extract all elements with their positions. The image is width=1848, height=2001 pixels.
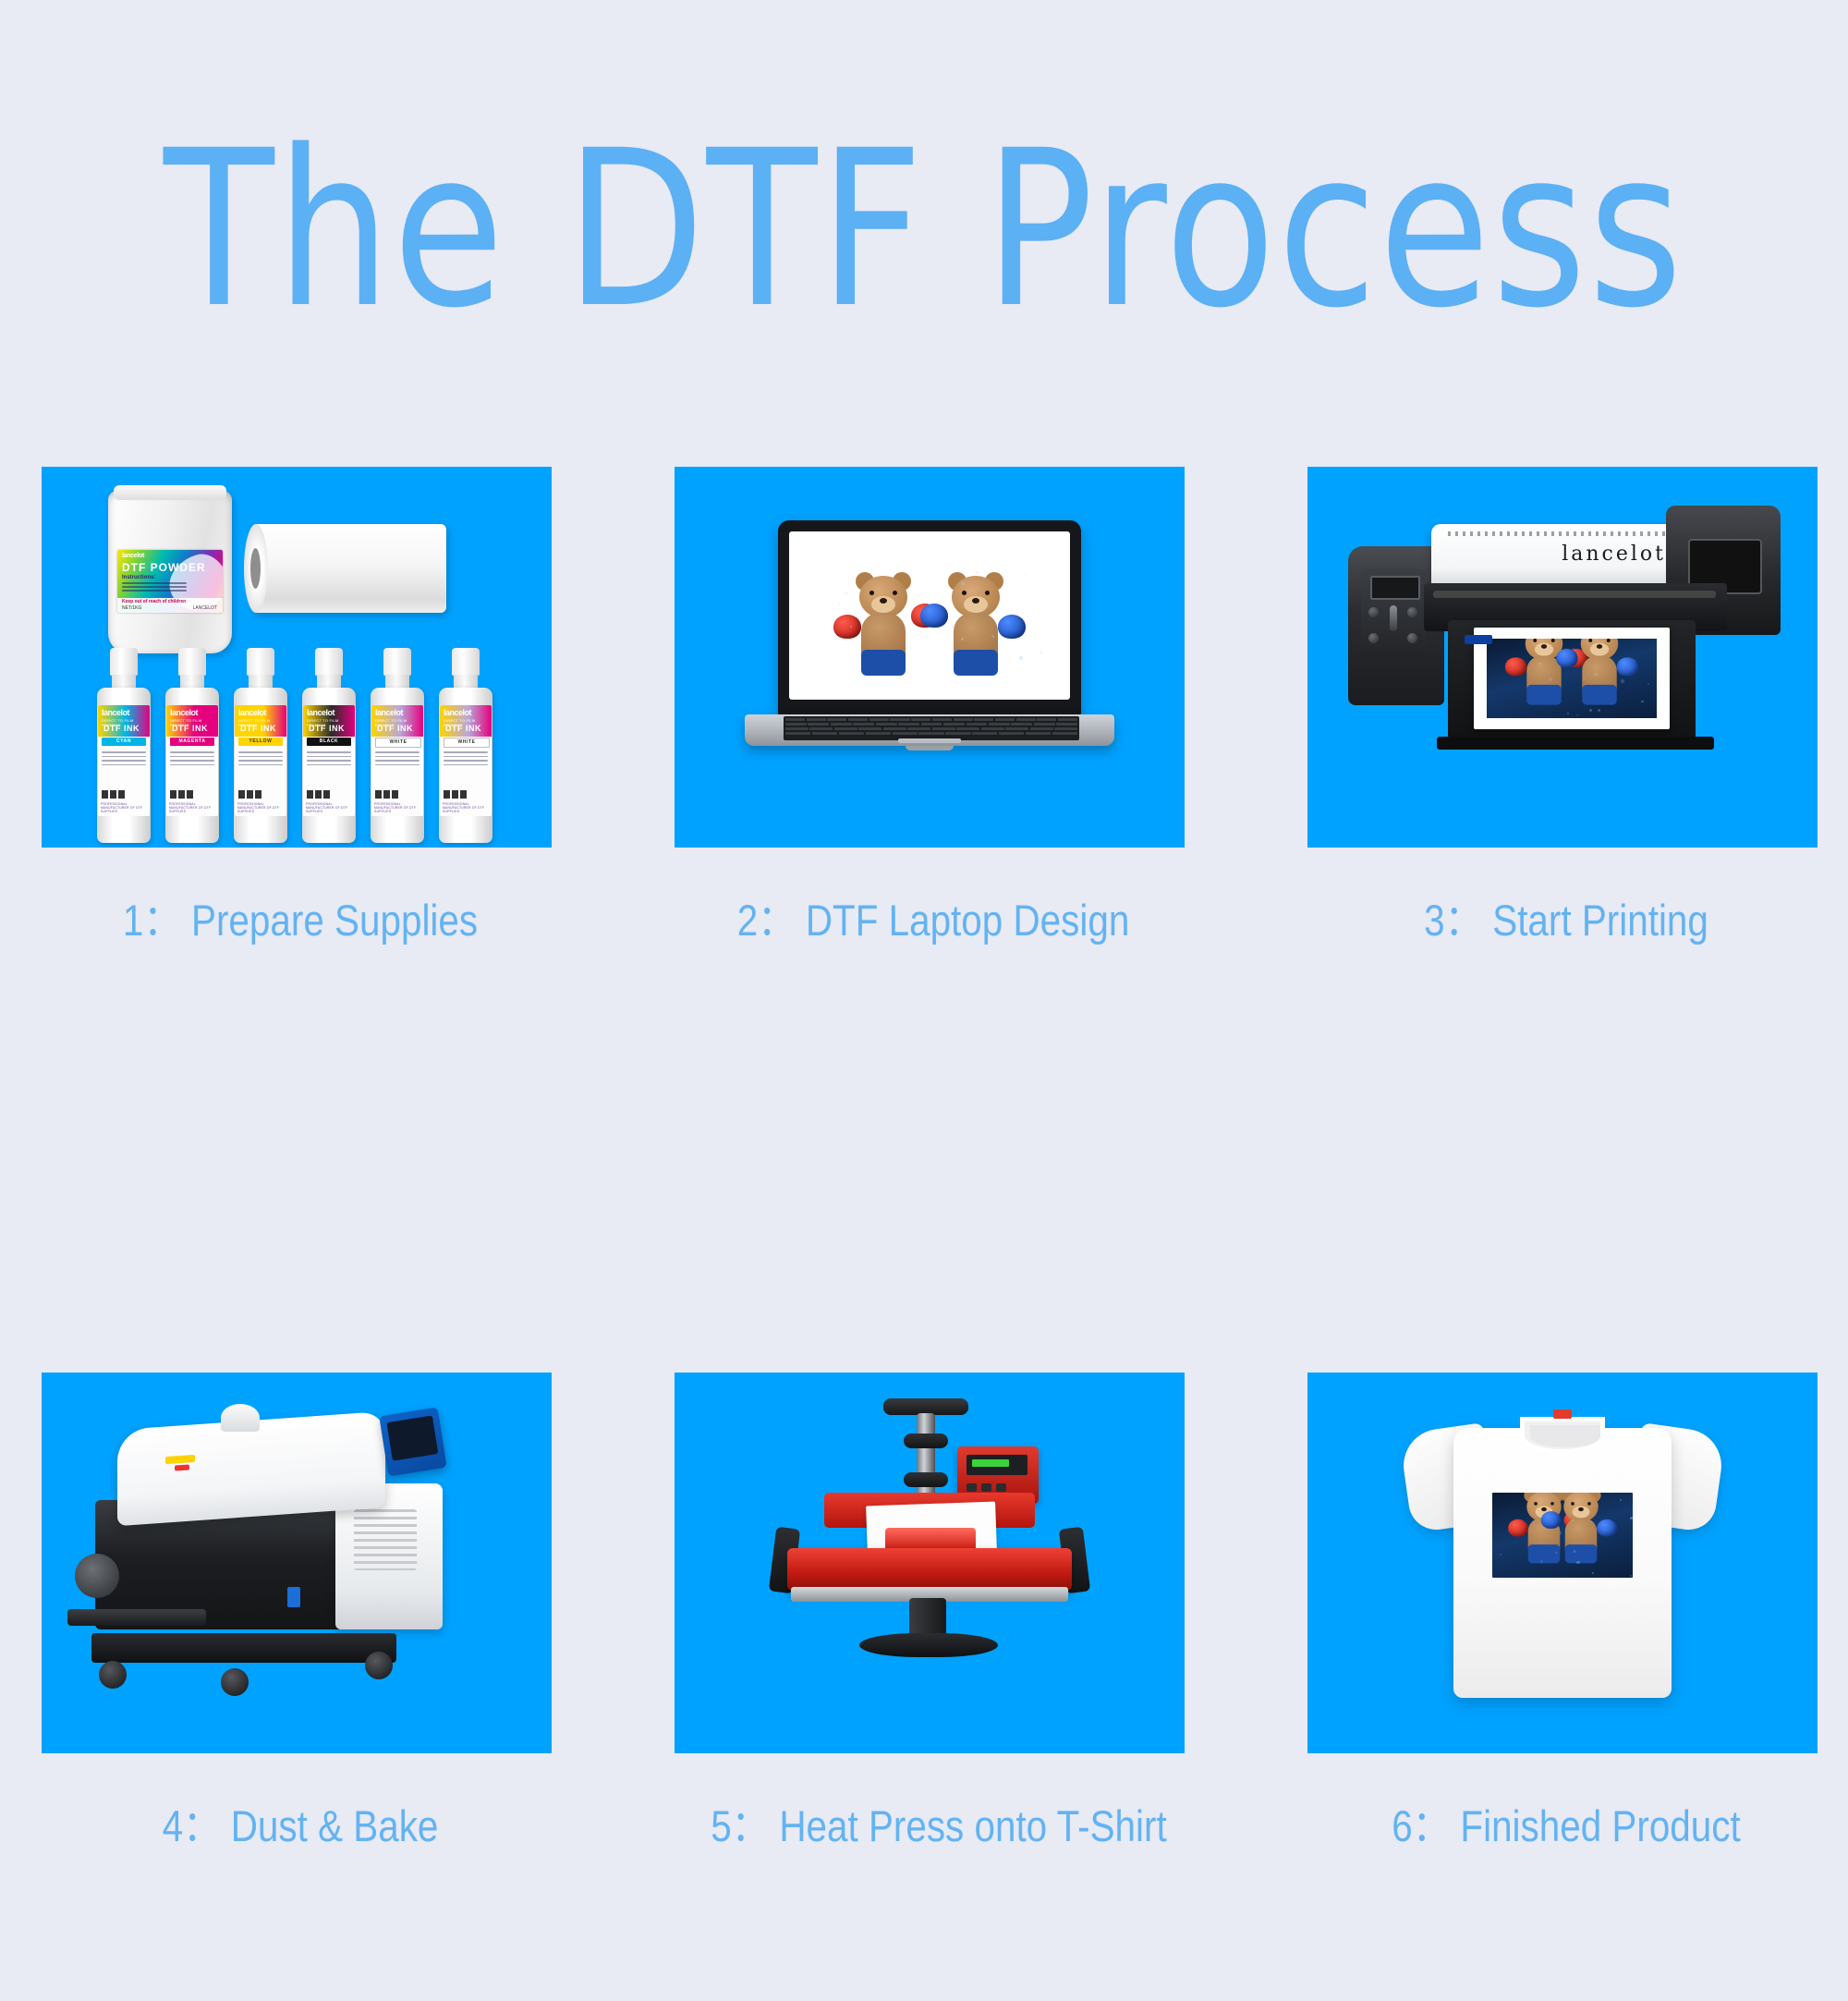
bottle-spec-lines <box>375 751 419 768</box>
bottle-label: lancelotDIRECT TO FILM PRINTINGDTF INKWH… <box>371 705 423 816</box>
bottle-color-name: WHITE <box>444 738 490 748</box>
artwork-sparkle <box>850 626 852 628</box>
teddy-bear-left-icon <box>841 572 926 676</box>
bottle-spec-lines <box>238 751 283 768</box>
steps-row-bottom: 4： Dust & Bake <box>0 1373 1848 2001</box>
boxing-glove-blue-icon <box>1541 1511 1562 1529</box>
bottle-footer: PROFESSIONAL MANUFACTURER OF DTF SUPPLIE… <box>374 802 423 813</box>
shaker-caster-wheel <box>365 1652 393 1679</box>
artwork-sparkle <box>1592 1572 1594 1574</box>
dtf-process-infographic: The DTF Process lancelot DTF POWDER Inst… <box>0 0 1848 1848</box>
powder-net-weight: NET/1KG <box>122 605 141 611</box>
shaker-feed-arm <box>67 1609 206 1626</box>
bottle-safety-icons <box>307 787 332 803</box>
press-pressure-knob[interactable] <box>904 1434 948 1448</box>
step-image-4 <box>42 1373 552 1753</box>
printer-lcd-display <box>1370 576 1420 600</box>
bottle-brand: lancelot <box>444 708 471 717</box>
shaker-caster-wheel <box>99 1661 127 1689</box>
press-pressure-knob[interactable] <box>904 1472 948 1487</box>
powder-product-name: DTF POWDER <box>122 561 206 574</box>
bottle-footer: PROFESSIONAL MANUFACTURER OF DTF SUPPLIE… <box>237 802 286 813</box>
press-lcd-display <box>967 1455 1027 1475</box>
bottle-brand: lancelot <box>170 708 198 717</box>
bottle-brand: lancelot <box>102 708 129 717</box>
dtf-powder-bag: lancelot DTF POWDER Instructions: Keep o… <box>108 491 232 653</box>
artwork-sparkle <box>1641 701 1643 702</box>
bottle-footer: PROFESSIONAL MANUFACTURER OF DTF SUPPLIE… <box>101 802 150 813</box>
powder-logo-mark: LANCELOT <box>193 605 217 611</box>
artwork-sparkle <box>1040 652 1042 653</box>
bottle-product: DTF INK <box>240 724 276 733</box>
press-stem <box>917 1413 935 1502</box>
artwork-sparkle <box>1630 1575 1633 1578</box>
step-caption-3: 3： Start Printing <box>1343 885 1789 948</box>
step-caption-4: 4： Dust & Bake <box>78 1790 523 1854</box>
artwork-sparkle <box>1026 574 1027 576</box>
bottle-color-name: BLACK <box>307 738 351 746</box>
bottle-footer: PROFESSIONAL MANUFACTURER OF DTF SUPPLIE… <box>169 802 218 813</box>
step-image-6 <box>1307 1373 1818 1753</box>
bottle-safety-icons <box>170 787 195 803</box>
bottle-cap <box>247 648 274 676</box>
artwork-sparkle <box>1574 1550 1576 1553</box>
bottle-product: DTF INK <box>445 724 481 733</box>
tshirt-neck-tag <box>1553 1409 1572 1419</box>
artwork-sparkle <box>1594 673 1597 676</box>
powder-instruction-lines <box>122 582 187 593</box>
shaker-red-label <box>175 1464 189 1470</box>
bottle-footer: PROFESSIONAL MANUFACTURER OF DTF SUPPLIE… <box>443 802 492 813</box>
step-image-3: lancelot <box>1307 467 1818 848</box>
bottle-color-name: CYAN <box>102 738 146 746</box>
powder-label: lancelot DTF POWDER Instructions: Keep o… <box>117 550 223 613</box>
shaker-vent-grille <box>354 1509 417 1570</box>
artwork-sparkle <box>1620 1499 1622 1501</box>
artwork-sparkle <box>1576 714 1578 716</box>
artwork-sparkle <box>1647 683 1649 685</box>
bottle-cap <box>110 648 138 676</box>
step-image-1: lancelot DTF POWDER Instructions: Keep o… <box>42 467 552 848</box>
boxing-glove-red-icon <box>1508 1519 1528 1537</box>
design-artwork-print <box>1487 639 1657 718</box>
step-card-6[interactable]: 6： Finished Product <box>1307 1373 1825 1854</box>
printer-base-feet <box>1437 737 1714 750</box>
bottle-label: lancelotDIRECT TO FILM PRINTINGDTF INKCY… <box>98 705 150 816</box>
artwork-sparkle <box>1598 709 1600 712</box>
printer-button <box>1407 607 1417 617</box>
step-card-2[interactable]: 2： DTF Laptop Design <box>675 467 1192 948</box>
bottle-brand: lancelot <box>238 708 266 717</box>
bottle-safety-icons <box>444 787 468 803</box>
laptop-touchpad <box>898 738 961 743</box>
step-card-5[interactable]: 5： Heat Press onto T-Shirt <box>675 1373 1192 1854</box>
bottle-label: lancelotDIRECT TO FILM PRINTINGDTF INKBL… <box>303 705 355 816</box>
shaker-caster-wheel <box>221 1668 249 1696</box>
press-lower-platen <box>787 1548 1072 1591</box>
printer-button <box>1407 633 1417 643</box>
shaker-touchscreen[interactable] <box>379 1407 447 1476</box>
ink-bottle: lancelotDIRECT TO FILM PRINTINGDTF INKBL… <box>300 648 358 844</box>
ink-bottle: lancelotDIRECT TO FILM PRINTINGDTF INKWH… <box>369 648 426 844</box>
powder-shaker-oven-icon <box>58 1391 535 1739</box>
artwork-sparkle <box>838 604 841 606</box>
laptop-icon <box>745 520 1114 798</box>
step-card-1[interactable]: lancelot DTF POWDER Instructions: Keep o… <box>42 467 559 948</box>
printer-brand-logo: lancelot <box>1562 543 1666 566</box>
step-image-2 <box>675 467 1185 848</box>
step-caption-6: 6： Finished Product <box>1343 1790 1789 1854</box>
bottle-color-name: MAGENTA <box>170 738 214 746</box>
press-foot-base <box>859 1633 998 1657</box>
artwork-sparkle <box>1576 1561 1579 1564</box>
ink-bottle: lancelotDIRECT TO FILM PRINTINGDTF INKYE… <box>232 648 289 844</box>
artwork-sparkle <box>978 587 979 588</box>
bottle-color-name: WHITE <box>375 738 421 748</box>
bottle-brand: lancelot <box>307 708 334 717</box>
tshirt-collar <box>1520 1417 1605 1454</box>
finished-tshirt-icon <box>1405 1397 1720 1729</box>
bottle-spec-lines <box>102 751 146 768</box>
bottle-brand: lancelot <box>375 708 403 717</box>
bottle-product: DTF INK <box>103 724 140 733</box>
bottle-color-name: YELLOW <box>238 738 283 746</box>
artwork-sparkle <box>1500 1554 1501 1556</box>
boxing-glove-blue-icon <box>1556 649 1577 667</box>
dtf-printer-icon: lancelot <box>1335 498 1788 812</box>
artwork-sparkle <box>983 577 985 579</box>
printer-status-indicator <box>1465 635 1492 644</box>
step-image-5 <box>675 1373 1185 1753</box>
bottle-cap <box>178 648 206 676</box>
heat-press-icon <box>763 1393 1096 1742</box>
bottle-label: lancelotDIRECT TO FILM PRINTINGDTF INKWH… <box>440 705 492 816</box>
artwork-sparkle <box>952 625 954 627</box>
step-card-4[interactable]: 4： Dust & Bake <box>42 1373 559 1854</box>
printer-joystick <box>1390 605 1397 631</box>
boxing-glove-blue-icon <box>1597 1519 1617 1537</box>
step-caption-1: 1： Prepare Supplies <box>78 885 523 948</box>
steps-grid: lancelot DTF POWDER Instructions: Keep o… <box>0 467 1848 2001</box>
printer-vent-dots <box>1448 531 1699 536</box>
step-card-3[interactable]: lancelot <box>1307 467 1825 948</box>
artwork-sparkle <box>1499 688 1501 689</box>
printer-button <box>1368 607 1379 617</box>
steps-row-top: lancelot DTF POWDER Instructions: Keep o… <box>0 467 1848 1095</box>
powder-brand: lancelot <box>122 553 144 559</box>
bottle-cap <box>452 648 480 676</box>
design-artwork-tshirt <box>1492 1493 1633 1578</box>
page-title: The DTF Process <box>9 122 1839 338</box>
artwork-sparkle <box>979 609 982 612</box>
bottle-spec-lines <box>307 751 351 768</box>
ink-bottle: lancelotDIRECT TO FILM PRINTINGDTF INKCY… <box>95 648 152 844</box>
film-roll-core <box>250 548 261 589</box>
laptop-lid <box>778 520 1081 716</box>
printer-button <box>1368 633 1379 643</box>
boxing-glove-blue-icon <box>1617 657 1638 676</box>
powder-instructions-heading: Instructions: <box>122 575 155 580</box>
bottle-product: DTF INK <box>377 724 413 733</box>
teddy-bear-right-icon <box>1550 1493 1611 1563</box>
artwork-sparkle <box>1019 656 1023 660</box>
printed-film-sheet <box>1474 628 1670 729</box>
bottle-cap <box>315 648 343 676</box>
shaker-powder-funnel <box>221 1404 260 1432</box>
boxing-glove-blue-icon <box>998 615 1026 639</box>
teddy-bear-right-icon <box>1566 639 1633 705</box>
boxing-glove-blue-icon <box>920 604 948 628</box>
boxing-glove-red-icon <box>833 615 861 639</box>
bottle-product: DTF INK <box>172 724 208 733</box>
ink-bottle-row: lancelotDIRECT TO FILM PRINTINGDTF INKCY… <box>95 648 502 847</box>
artwork-sparkle <box>1540 1560 1543 1563</box>
artwork-sparkle <box>1572 1519 1574 1521</box>
bottle-footer: PROFESSIONAL MANUFACTURER OF DTF SUPPLIE… <box>306 802 355 813</box>
shaker-power-switch[interactable] <box>287 1587 300 1607</box>
printer-control-panel <box>1361 568 1426 657</box>
printer-carriage-rail <box>1433 591 1716 598</box>
bottle-safety-icons <box>238 787 263 803</box>
powder-warning: Keep out of reach of children <box>122 599 186 604</box>
boxing-glove-red-icon <box>1505 657 1526 676</box>
teddy-bear-right-icon <box>933 572 1018 676</box>
artwork-sparkle <box>991 635 994 638</box>
bottle-product: DTF INK <box>309 724 345 733</box>
design-artwork-laptop <box>813 550 1046 681</box>
step-caption-5: 5： Heat Press onto T-Shirt <box>711 1790 1156 1854</box>
shaker-film-roller <box>75 1554 119 1598</box>
artwork-sparkle <box>1589 709 1592 712</box>
bottle-spec-lines <box>170 751 214 768</box>
ink-bottle: lancelotDIRECT TO FILM PRINTINGDTF INKWH… <box>437 648 494 844</box>
bottle-spec-lines <box>444 751 488 768</box>
laptop-front-notch <box>906 746 954 750</box>
step-caption-2: 2： DTF Laptop Design <box>711 885 1156 948</box>
laptop-screen <box>789 531 1070 700</box>
bottle-safety-icons <box>102 787 127 803</box>
shaker-lower-frame <box>91 1633 396 1663</box>
bottle-safety-icons <box>375 787 400 803</box>
bottle-cap <box>383 648 411 676</box>
artwork-sparkle <box>1567 713 1569 714</box>
bottle-label: lancelotDIRECT TO FILM PRINTINGDTF INKMA… <box>166 705 218 816</box>
bottle-label: lancelotDIRECT TO FILM PRINTINGDTF INKYE… <box>235 705 286 816</box>
artwork-sparkle <box>1630 1517 1633 1519</box>
laptop-keyboard <box>784 716 1079 740</box>
dtf-film-roll <box>252 524 446 613</box>
artwork-sparkle <box>961 581 965 585</box>
artwork-sparkle <box>845 592 847 594</box>
ink-bottle: lancelotDIRECT TO FILM PRINTINGDTF INKMA… <box>164 648 221 844</box>
